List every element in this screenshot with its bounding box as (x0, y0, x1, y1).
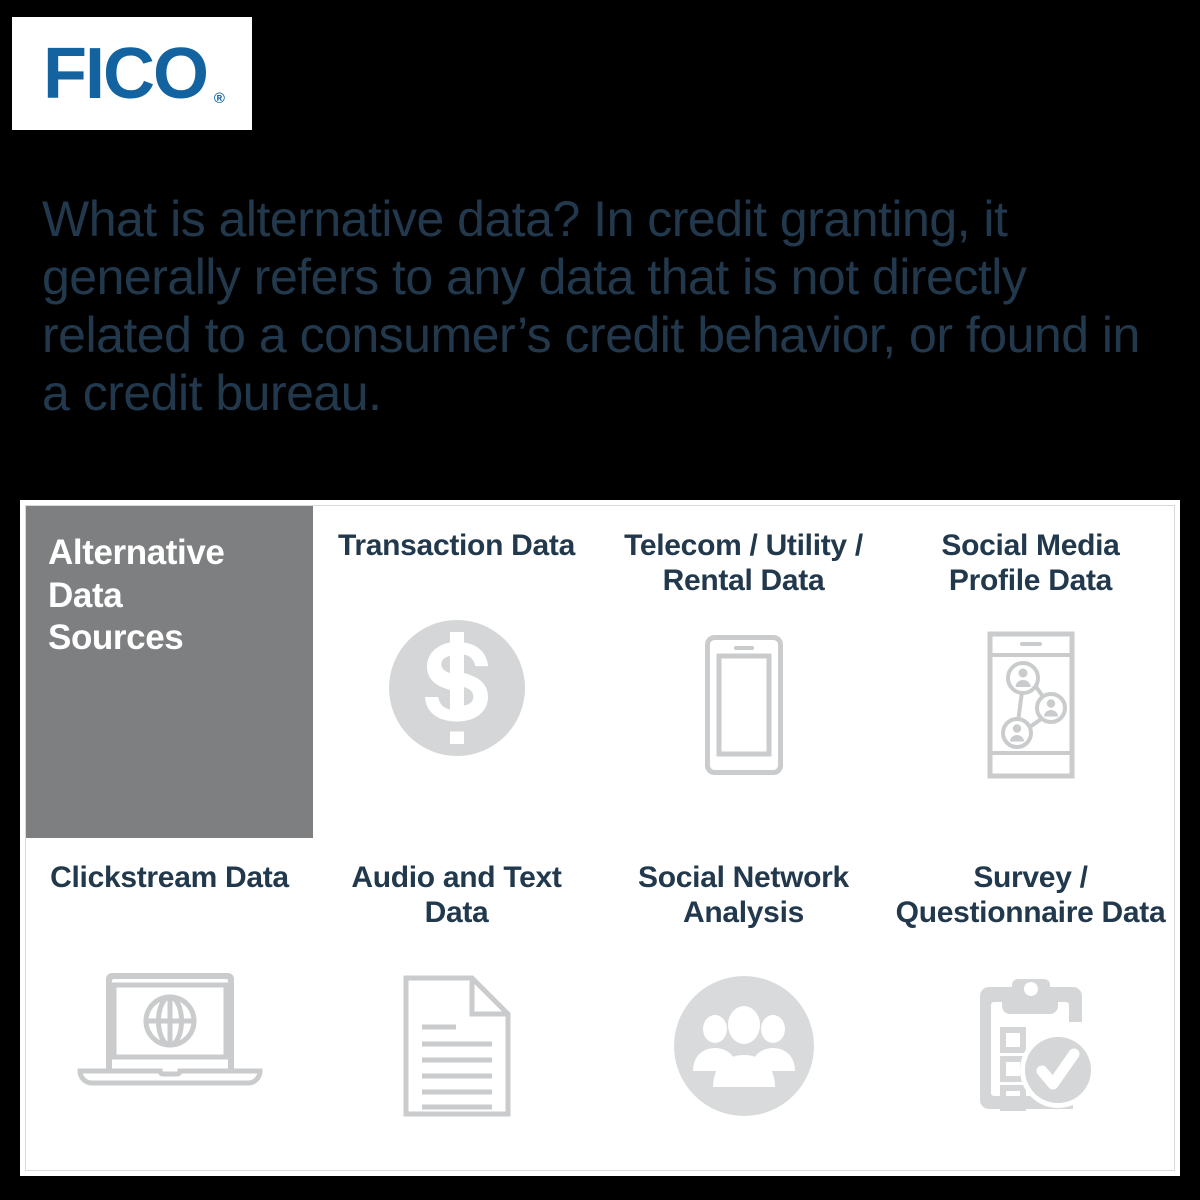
cell-social-media-profile-data: Social Media Profile Data (887, 506, 1174, 838)
alternative-data-sources-panel: Alternative Data Sources Transaction Dat… (20, 500, 1180, 1176)
cell-title-audio-and-text-data: Audio and Text Data (322, 860, 592, 931)
cell-title-telecom-utility-rental-data: Telecom / Utility / Rental Data (609, 528, 879, 599)
cell-title-clickstream-data: Clickstream Data (50, 860, 289, 895)
page-headline: What is alternative data? In credit gran… (42, 190, 1162, 422)
grid-header-line-2: Data (48, 575, 122, 618)
document-lines-icon (313, 931, 600, 1170)
panel-inner-border: Alternative Data Sources Transaction Dat… (25, 505, 1175, 1171)
cell-clickstream-data: Clickstream Data (26, 838, 313, 1170)
cell-telecom-utility-rental-data: Telecom / Utility / Rental Data (600, 506, 887, 838)
cell-title-survey-questionnaire-data: Survey / Questionnaire Data (896, 860, 1166, 931)
grid-header-line-1: Alternative (48, 532, 225, 575)
sources-grid: Alternative Data Sources Transaction Dat… (26, 506, 1174, 1170)
dollar-circle-icon (313, 563, 600, 838)
laptop-globe-icon (26, 895, 313, 1170)
registered-trademark-icon: ® (214, 91, 223, 106)
phone-social-network-icon (887, 599, 1174, 838)
cell-title-social-network-analysis: Social Network Analysis (609, 860, 879, 931)
cell-audio-and-text-data: Audio and Text Data (313, 838, 600, 1170)
fico-wordmark: FICO ® (43, 38, 221, 110)
clipboard-check-icon (887, 931, 1174, 1170)
grid-header-cell: Alternative Data Sources (26, 506, 313, 838)
cell-survey-questionnaire-data: Survey / Questionnaire Data (887, 838, 1174, 1170)
people-group-circle-icon (600, 931, 887, 1170)
mobile-phone-icon (600, 599, 887, 838)
fico-logo-text: FICO (43, 34, 207, 114)
infographic-page: FICO ® What is alternative data? In cred… (0, 0, 1200, 1200)
grid-header-line-3: Sources (48, 617, 183, 660)
cell-title-transaction-data: Transaction Data (338, 528, 575, 563)
cell-title-social-media-profile-data: Social Media Profile Data (896, 528, 1166, 599)
fico-logo: FICO ® (12, 17, 252, 130)
cell-transaction-data: Transaction Data (313, 506, 600, 838)
cell-social-network-analysis: Social Network Analysis (600, 838, 887, 1170)
